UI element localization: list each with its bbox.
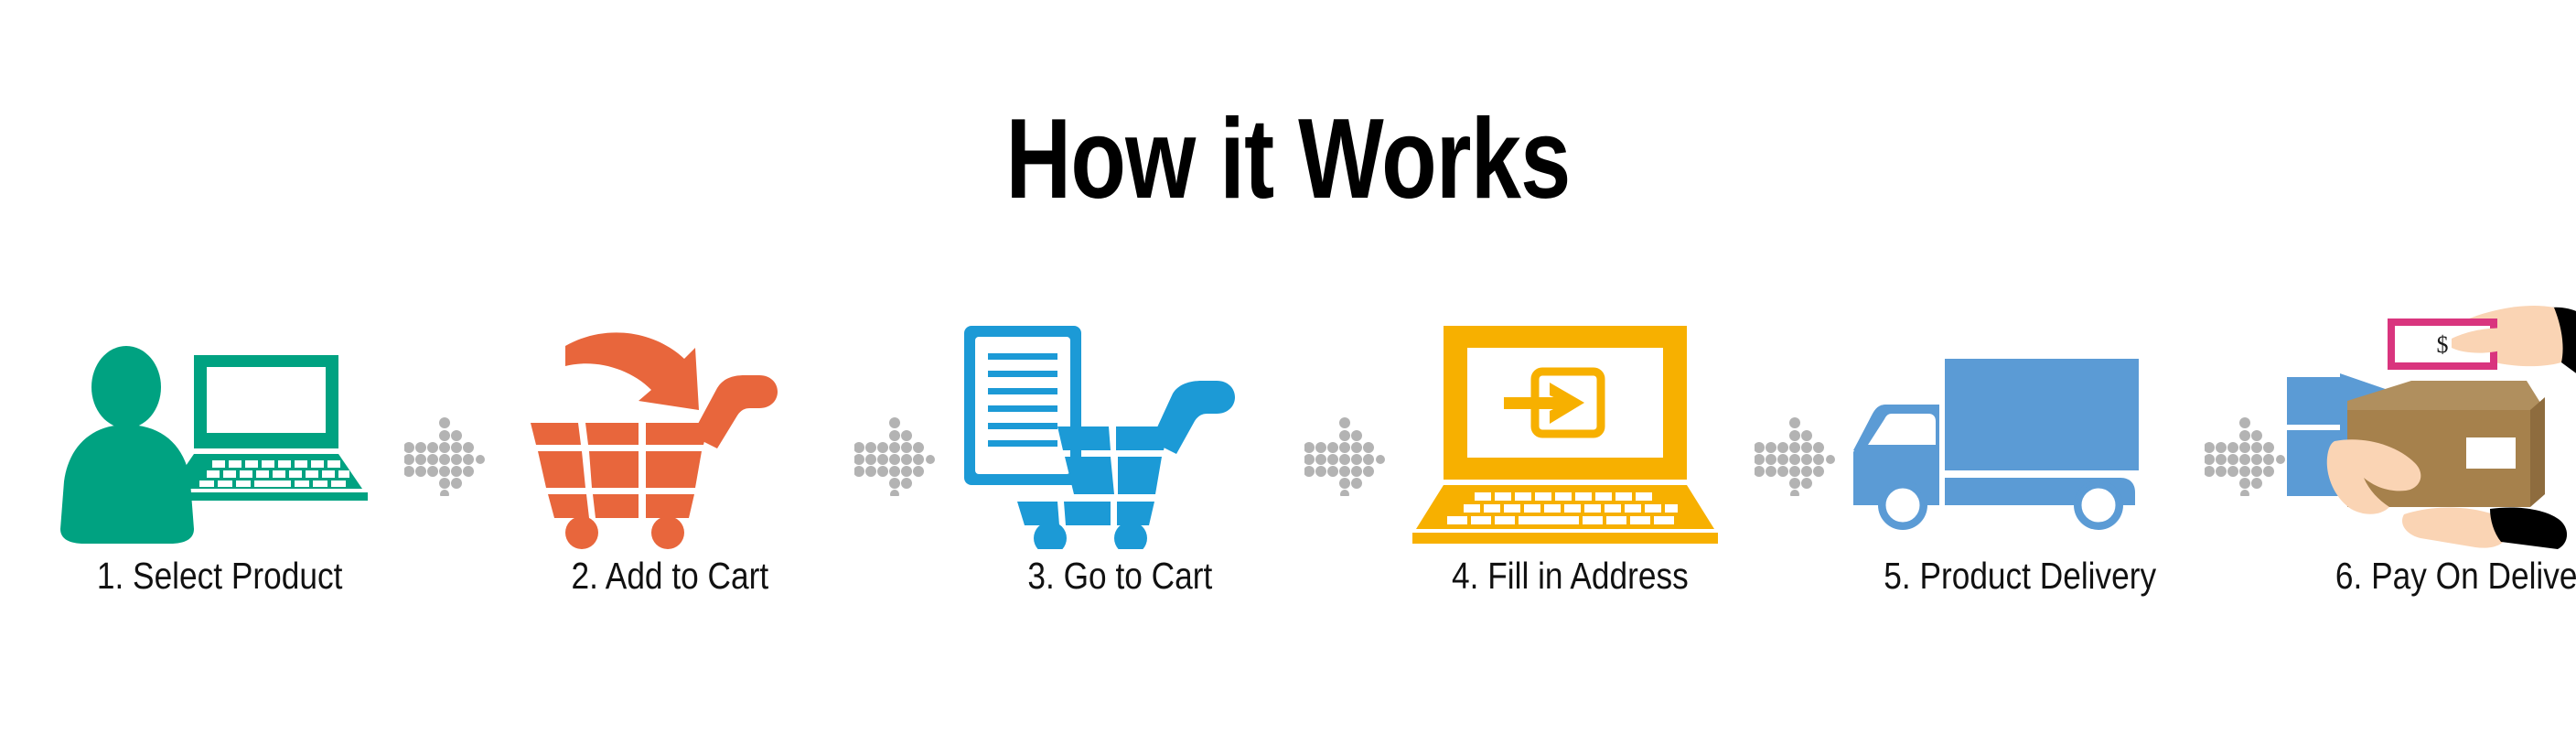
dotted-arrow-right-icon — [2205, 416, 2285, 496]
document-with-cart-icon — [937, 302, 1303, 549]
step-6-pay-on-delivery[interactable]: $ — [2287, 302, 2576, 686]
separator-1 — [402, 302, 487, 686]
separator-5 — [2203, 302, 2287, 686]
separator-4 — [1753, 302, 1837, 686]
dotted-arrow-right-icon — [854, 416, 935, 496]
person-with-laptop-icon — [37, 302, 402, 549]
box-label — [2466, 437, 2516, 469]
step-5-label: 5. Product Delivery — [1884, 555, 2156, 598]
laptop-with-login-icon — [1387, 302, 1753, 549]
dotted-arrow-right-icon — [404, 416, 485, 496]
step-5-product-delivery[interactable]: 5. Product Delivery — [1837, 302, 2203, 686]
step-2-label: 2. Add to Cart — [571, 555, 768, 598]
step-4-fill-in-address[interactable]: 4. Fill in Address — [1387, 302, 1753, 686]
step-3-label: 3. Go to Cart — [1027, 555, 1212, 598]
step-2-add-to-cart[interactable]: 2. Add to Cart — [487, 302, 853, 686]
cart-with-arrow-icon — [487, 302, 853, 549]
sleeve-blue-upper — [2287, 377, 2344, 425]
dotted-arrow-right-icon — [1304, 416, 1385, 496]
step-4-label: 4. Fill in Address — [1452, 555, 1689, 598]
separator-2 — [853, 302, 937, 686]
dotted-arrow-right-icon — [1755, 416, 1835, 496]
how-it-works-infographic: How it Works — [0, 0, 2576, 745]
step-3-go-to-cart[interactable]: 3. Go to Cart — [937, 302, 1303, 686]
hands-box-money-icon: $ — [2287, 302, 2576, 549]
delivery-truck-icon — [1837, 302, 2203, 549]
steps-row: 1. Select Product — [37, 302, 2543, 686]
separator-3 — [1303, 302, 1387, 686]
step-6-label: 6. Pay On Delivery — [2335, 555, 2576, 598]
step-1-label: 1. Select Product — [97, 555, 343, 598]
dollar-symbol: $ — [2437, 331, 2449, 358]
page-title: How it Works — [258, 103, 2319, 216]
step-1-select-product[interactable]: 1. Select Product — [37, 302, 402, 686]
